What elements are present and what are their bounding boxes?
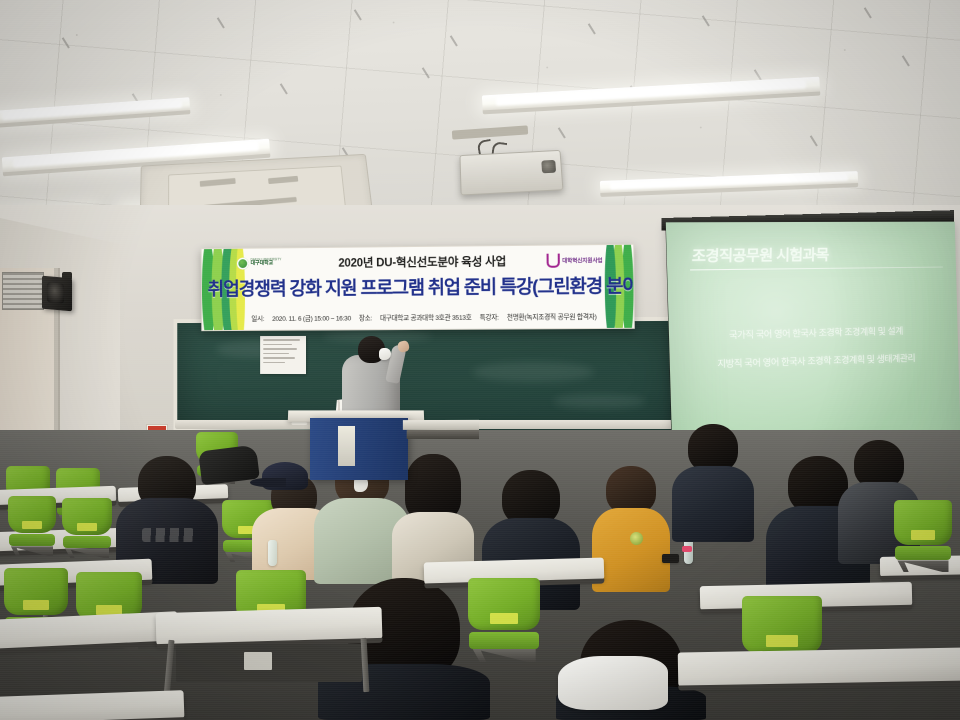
chalkboard-notice [260, 336, 306, 374]
desk-front-3[interactable] [678, 647, 960, 686]
smartphone [662, 554, 679, 563]
slide-line-2: 지방직 국어 영어 한국사 조경학 조경계획 및 생태계관리 [670, 349, 959, 372]
banner-place: 대구대학교 공과대학 3호관 3513호 [380, 312, 472, 323]
chair-right-edge[interactable] [894, 500, 952, 572]
banner-details: 일시: 2020. 11. 6 (금) 15:00 ~ 16:30 장소: 대구… [243, 310, 605, 324]
cap-brim [250, 478, 286, 488]
slide-title-underline [690, 267, 943, 271]
lectern [310, 418, 408, 480]
slide-line-1: 국가직 국어 영어 한국사 조경학 조경계획 및 설계 [669, 322, 958, 343]
desk-label-sticker [244, 652, 272, 670]
classroom-photo: DAEGU UNIVERSITY 대구대학교 대학혁신지원사업 2020년 DU… [0, 0, 960, 720]
white-plastic-bag [558, 656, 668, 710]
sweater-badge [630, 532, 643, 545]
desk-front-2[interactable] [156, 607, 383, 645]
lectern-side-shelf [403, 420, 479, 430]
slide-title: 조경직공무원 시험과목 [691, 244, 828, 266]
banner-place-label: 장소: [359, 312, 372, 322]
ceiling-projector [459, 150, 563, 196]
lectern-side-shelf-under [407, 430, 479, 439]
banner-main-title: 취업경쟁력 강화 지원 프로그램 취업 준비 특강(그린환경 분야) [241, 272, 609, 300]
lectern-panel [338, 426, 355, 466]
banner-speaker: 천명환(녹지조경직 공무원 합격자) [507, 311, 597, 322]
speaker-cone [47, 282, 64, 303]
audience-person-7 [672, 424, 754, 542]
wall-mounted-speaker [42, 276, 72, 312]
chair-mid-2[interactable] [62, 498, 112, 558]
event-banner: DAEGU UNIVERSITY 대구대학교 대학혁신지원사업 2020년 DU… [201, 244, 635, 331]
pink-accessory [682, 546, 692, 552]
baseball-cap [262, 462, 308, 490]
door-vent [2, 272, 44, 310]
person-head [854, 440, 904, 488]
water-bottle [268, 540, 277, 566]
chair-front-4[interactable] [468, 578, 540, 662]
chalkboard [173, 317, 680, 435]
person-torso [672, 466, 754, 542]
person-head [606, 466, 656, 514]
person-head [688, 424, 738, 472]
banner-program-line: 2020년 DU-혁신선도분야 육성 사업 [338, 253, 506, 271]
projector-lens [541, 160, 556, 173]
banner-speaker-label: 특강자: [480, 311, 499, 321]
desk-front-1[interactable] [0, 611, 179, 650]
person-1-jacket-print [142, 528, 194, 542]
chair-mid-1[interactable] [8, 496, 56, 556]
person-head [405, 454, 461, 520]
banner-datetime: 2020. 11. 6 (금) 15:00 ~ 16:30 [272, 312, 351, 322]
banner-datetime-label: 일시: [251, 313, 264, 323]
desk-front-4[interactable] [0, 690, 184, 720]
